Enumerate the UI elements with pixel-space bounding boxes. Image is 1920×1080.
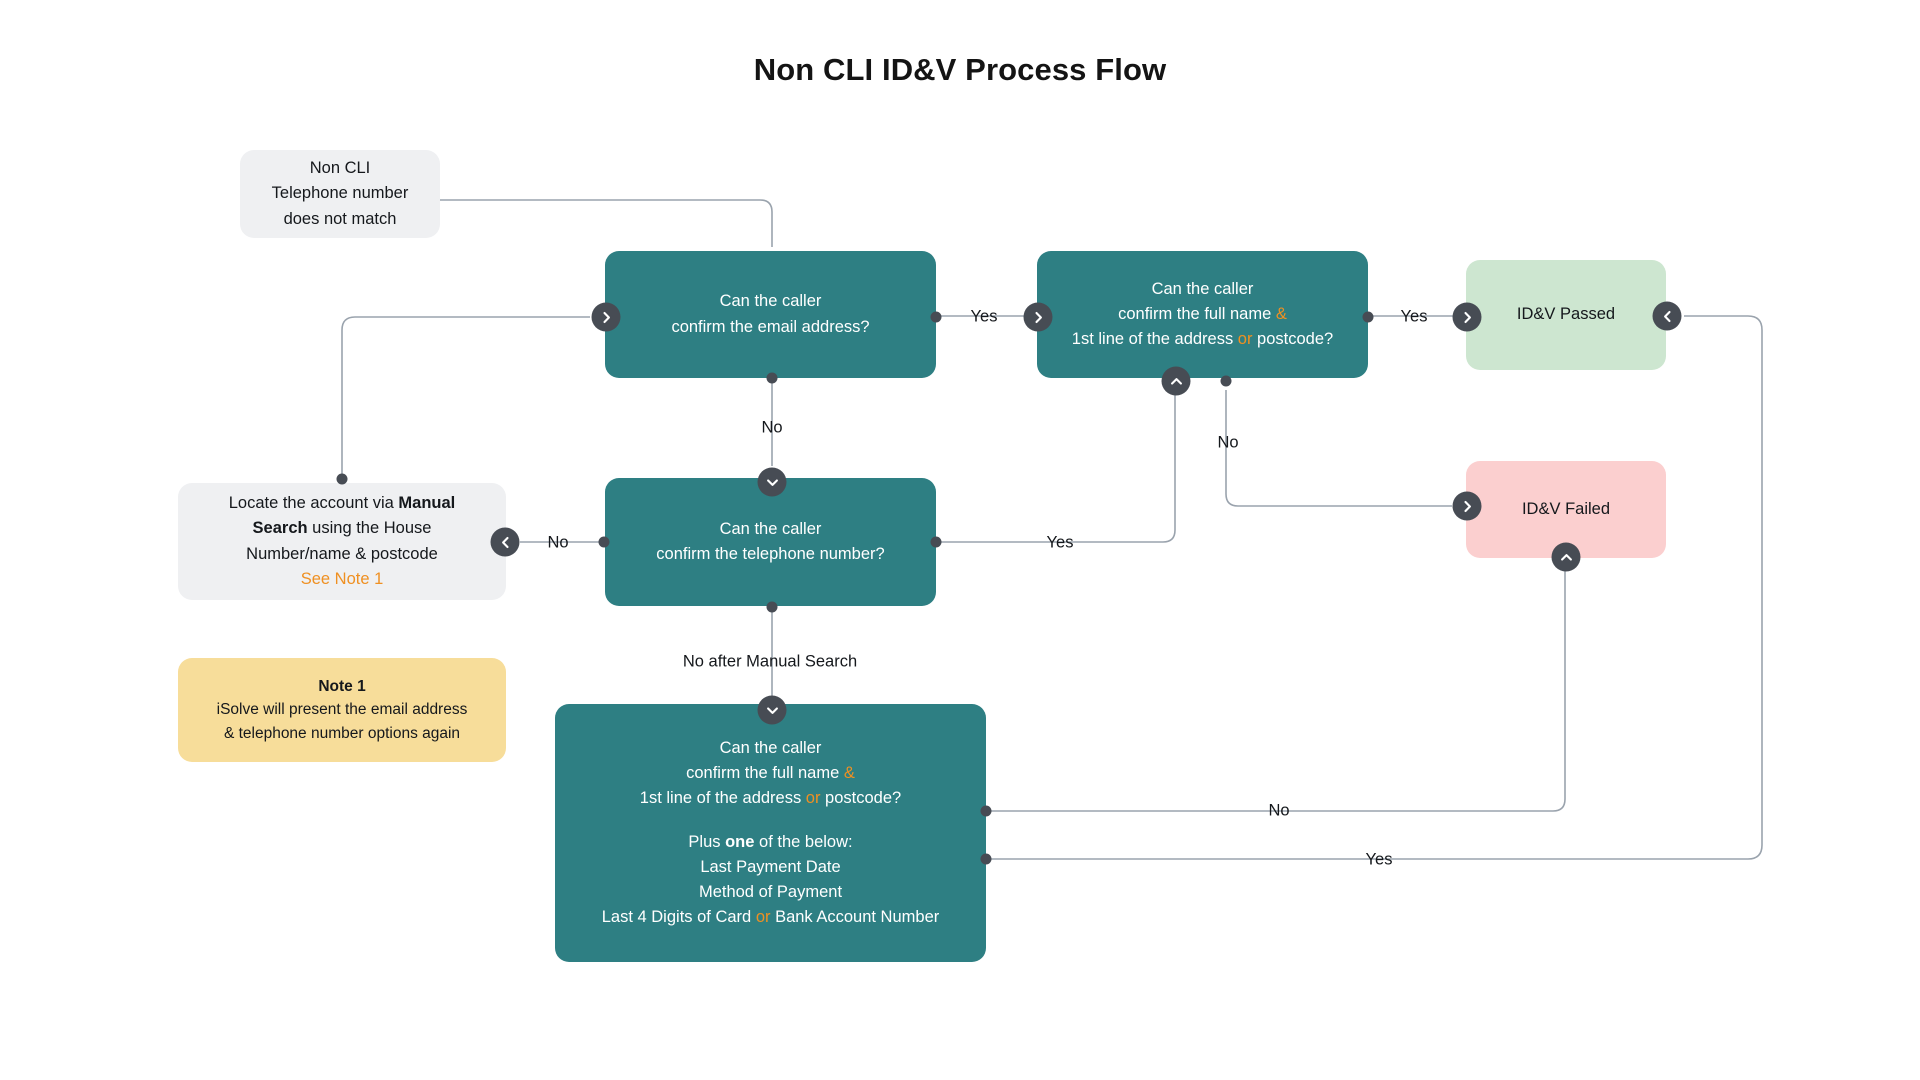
node-start-line3: does not match	[284, 210, 397, 228]
chevron-left-icon-manual-entry[interactable]	[491, 528, 520, 557]
chevron-down-icon-telephone-entry[interactable]	[758, 468, 787, 497]
node-fullname-line1: Can the caller	[1152, 280, 1254, 298]
node-final-spacer	[569, 811, 972, 830]
node-start-line1: Non CLI	[310, 159, 371, 177]
node-fullname-line2: confirm the full name	[1118, 305, 1276, 323]
anchor-dot-final-right-no	[981, 806, 992, 817]
node-idv-failed-label: ID&V Failed	[1522, 500, 1610, 518]
node-manual-search[interactable]: Locate the account via Manual Search usi…	[178, 483, 506, 600]
chevron-left-icon-passed-return[interactable]	[1653, 302, 1682, 331]
node-final-line3a: 1st line of the address	[640, 789, 806, 807]
node-manual-bold2: Search	[253, 519, 308, 537]
chevron-right-icon-failed-entry[interactable]	[1453, 492, 1482, 521]
node-telephone-line2: confirm the telephone number?	[656, 545, 884, 563]
edge-label-final-yes: Yes	[1366, 851, 1393, 870]
node-confirm-telephone[interactable]: Can the caller confirm the telephone num…	[605, 478, 936, 606]
anchor-dot-email-bottom	[767, 373, 778, 384]
node-email-line2: confirm the email address?	[671, 318, 869, 336]
node-final-option-2: Method of Payment	[699, 883, 842, 901]
node-fullname-line3a: 1st line of the address	[1072, 330, 1238, 348]
node-email-line1: Can the caller	[720, 292, 822, 310]
node-final-option-1: Last Payment Date	[700, 858, 840, 876]
anchor-dot-final-right-yes	[981, 854, 992, 865]
edge-label-final-no: No	[1268, 802, 1289, 821]
edge-label-telephone-no-after-manual: No after Manual Search	[683, 653, 857, 672]
node-final-verification[interactable]: Can the caller confirm the full name & 1…	[555, 704, 986, 962]
node-confirm-email[interactable]: Can the caller confirm the email address…	[605, 251, 936, 378]
edge-label-fullname-yes: Yes	[1401, 308, 1428, 327]
node-final-option-3a: Last 4 Digits of Card	[602, 908, 756, 926]
chevron-right-icon-fullname-entry[interactable]	[1024, 303, 1053, 332]
node-start-line2: Telephone number	[272, 184, 409, 202]
node-fullname-ampersand: &	[1276, 305, 1287, 323]
node-idv-passed-label: ID&V Passed	[1517, 305, 1615, 323]
node-final-ampersand: &	[844, 764, 855, 782]
anchor-dot-telephone-bottom	[767, 602, 778, 613]
edge-label-telephone-no: No	[547, 534, 568, 553]
chevron-up-icon-failed-bottom[interactable]	[1552, 543, 1581, 572]
node-note-line1: iSolve will present the email address	[217, 701, 468, 718]
node-note-1[interactable]: Note 1 iSolve will present the email add…	[178, 658, 506, 762]
node-final-plus-a: Plus	[688, 833, 725, 851]
node-final-plus-one: one	[725, 833, 754, 851]
node-manual-bold1: Manual	[398, 494, 455, 512]
node-manual-line2a: using the House	[308, 519, 432, 537]
chevron-up-icon-fullname-bottom[interactable]	[1162, 367, 1191, 396]
node-final-or: or	[806, 789, 821, 807]
node-final-line1: Can the caller	[720, 739, 822, 757]
edge-label-telephone-yes: Yes	[1047, 534, 1074, 553]
chevron-right-icon-passed-entry[interactable]	[1453, 303, 1482, 332]
node-idv-passed[interactable]: ID&V Passed	[1466, 260, 1666, 370]
node-start[interactable]: Non CLI Telephone number does not match	[240, 150, 440, 238]
node-manual-see-note-link[interactable]: See Note 1	[301, 570, 384, 588]
chevron-right-icon-email-entry[interactable]	[592, 303, 621, 332]
node-note-heading: Note 1	[318, 678, 365, 695]
anchor-dot-manual-top	[337, 474, 348, 485]
node-telephone-line1: Can the caller	[720, 520, 822, 538]
node-final-line2a: confirm the full name	[686, 764, 844, 782]
anchor-dot-fullname-bottom-no	[1221, 376, 1232, 387]
node-note-line2: & telephone number options again	[224, 725, 460, 742]
edge-label-email-no: No	[761, 419, 782, 438]
edge-label-email-yes: Yes	[971, 308, 998, 327]
anchor-dot-telephone-right	[931, 537, 942, 548]
node-manual-line3: Number/name & postcode	[246, 545, 438, 563]
node-final-line3b: postcode?	[820, 789, 901, 807]
anchor-dot-telephone-left	[599, 537, 610, 548]
node-fullname-or: or	[1238, 330, 1253, 348]
node-manual-line1a: Locate the account via	[229, 494, 399, 512]
anchor-dot-fullname-right	[1363, 312, 1374, 323]
node-final-option-3-or: or	[756, 908, 771, 926]
node-confirm-fullname[interactable]: Can the caller confirm the full name & 1…	[1037, 251, 1368, 378]
node-final-option-3b: Bank Account Number	[770, 908, 939, 926]
flowchart-canvas: Non CLI ID&V Process Flow	[0, 0, 1920, 1080]
node-fullname-line3b: postcode?	[1252, 330, 1333, 348]
chevron-down-icon-final-entry[interactable]	[758, 696, 787, 725]
edge-label-fullname-no: No	[1217, 434, 1238, 453]
anchor-dot-email-right	[931, 312, 942, 323]
node-final-plus-b: of the below:	[754, 833, 852, 851]
